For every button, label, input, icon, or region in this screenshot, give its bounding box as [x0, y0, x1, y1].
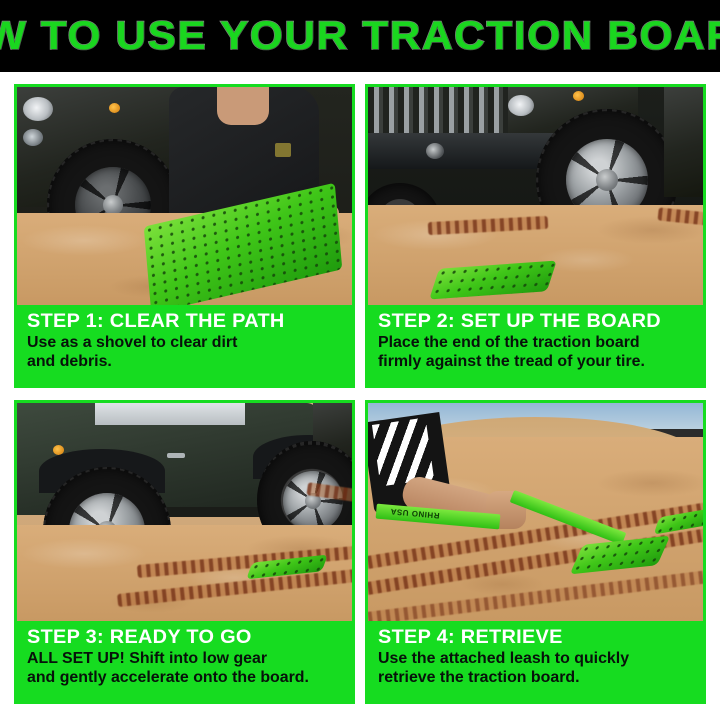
step-4-body-line-1: Use the attached leash to quickly	[378, 650, 701, 668]
step-1-body-line-1: Use as a shovel to clear dirt	[27, 334, 350, 352]
step-2-body-line-1: Place the end of the traction board	[378, 334, 701, 352]
step-1-body: Use as a shovel to clear dirt and debris…	[27, 334, 350, 371]
step-1-caption: STEP 1: CLEAR THE PATH Use as a shovel t…	[17, 305, 352, 385]
step-3-heading: STEP 3: READY TO GO	[27, 627, 350, 647]
step-2-caption: STEP 2: SET UP THE BOARD Place the end o…	[368, 305, 703, 385]
step-card-1[interactable]: STEP 1: CLEAR THE PATH Use as a shovel t…	[14, 84, 355, 388]
headlight-icon	[23, 97, 53, 121]
page-title: HOW TO USE YOUR TRACTION BOARDS	[0, 14, 720, 59]
step-3-body: ALL SET UP! Shift into low gear and gent…	[27, 650, 350, 687]
leash-brand-text: RHINO USA	[390, 507, 440, 520]
step-2-body-line-2: firmly against the tread of your tire.	[378, 353, 701, 371]
marker-light-icon	[573, 91, 584, 101]
step-3-body-line-2: and gently accelerate onto the board.	[27, 669, 350, 687]
fog-light-icon	[23, 129, 43, 146]
step-1-body-line-2: and debris.	[27, 353, 350, 371]
person-forearm	[217, 87, 269, 125]
steps-grid: STEP 1: CLEAR THE PATH Use as a shovel t…	[14, 84, 706, 704]
step-4-heading: STEP 4: RETRIEVE	[378, 627, 701, 647]
step-2-body: Place the end of the traction board firm…	[378, 334, 701, 371]
step-4-body: Use the attached leash to quickly retrie…	[378, 650, 701, 687]
marker-light-icon	[109, 103, 120, 113]
jacket-badge	[275, 143, 291, 157]
header-bar: HOW TO USE YOUR TRACTION BOARDS	[0, 0, 720, 72]
step-3-body-line-1: ALL SET UP! Shift into low gear	[27, 650, 350, 668]
wheel-hub	[596, 169, 618, 191]
step-card-4[interactable]: RHINO USA STEP 4: RETRIEVE Use the attac…	[365, 400, 706, 704]
step-card-2[interactable]: STEP 2: SET UP THE BOARD Place the end o…	[365, 84, 706, 388]
sleeve-stripes	[372, 418, 434, 487]
headlight-icon	[508, 95, 534, 116]
step-2-photo	[368, 87, 703, 305]
door-handle	[167, 453, 185, 458]
step-3-photo	[17, 403, 352, 621]
step-1-heading: STEP 1: CLEAR THE PATH	[27, 311, 350, 331]
step-4-caption: STEP 4: RETRIEVE Use the attached leash …	[368, 621, 703, 701]
vehicle-rear-panel	[664, 87, 703, 197]
jeep-grille	[368, 87, 528, 133]
vehicle-window	[95, 403, 245, 425]
wheel-hub	[103, 195, 123, 215]
step-4-body-line-2: retrieve the traction board.	[378, 669, 701, 687]
tow-hook-icon	[426, 143, 444, 159]
step-3-caption: STEP 3: READY TO GO ALL SET UP! Shift in…	[17, 621, 352, 701]
step-2-heading: STEP 2: SET UP THE BOARD	[378, 311, 701, 331]
step-card-3[interactable]: STEP 3: READY TO GO ALL SET UP! Shift in…	[14, 400, 355, 704]
step-1-photo	[17, 87, 352, 305]
step-4-photo: RHINO USA	[368, 403, 703, 621]
